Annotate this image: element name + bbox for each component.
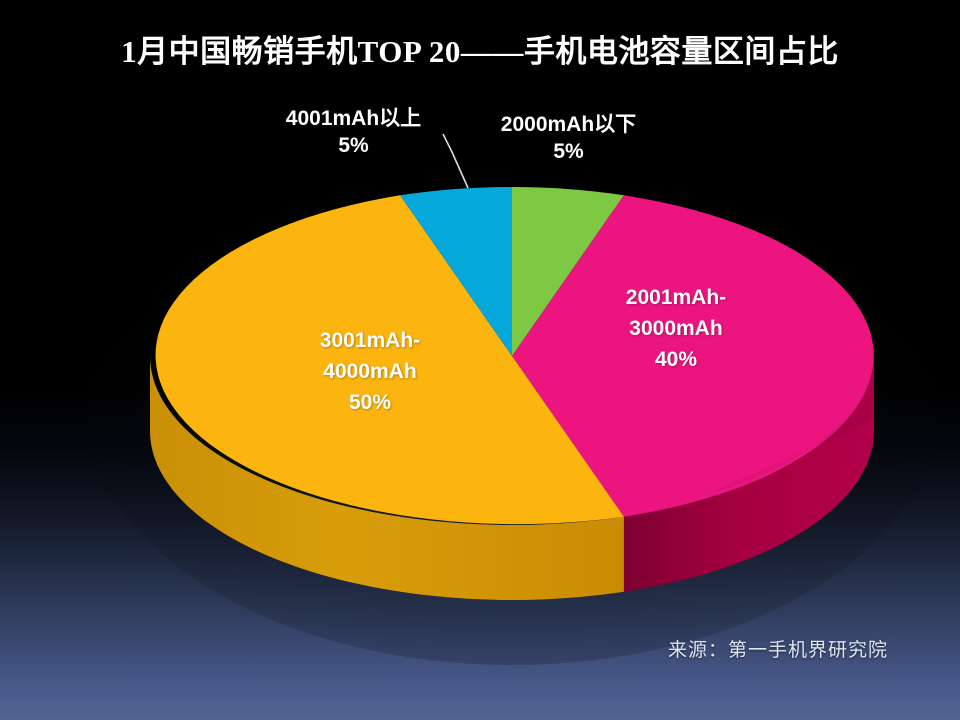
callout-label-4001mah-above: 4001mAh以上 5%	[246, 106, 461, 160]
slice-value-2001-3000mah: 40%	[655, 348, 697, 371]
slice-name-3001-4000mah-line2: 4000mAh	[323, 360, 416, 383]
slice-label-3001-4000mah: 3001mAh- 4000mAh 50%	[250, 325, 490, 418]
callout-name-4001mah: 4001mAh以上	[286, 107, 421, 130]
callout-value-4001mah: 5%	[338, 134, 368, 157]
callout-label-2000mah-below: 2000mAh以下 5%	[466, 112, 671, 166]
callout-name-2000mah: 2000mAh以下	[501, 113, 636, 136]
slice-label-2001-3000mah: 2001mAh- 3000mAh 40%	[556, 282, 796, 375]
chart-canvas: 1月中国畅销手机TOP 20——手机电池容量区间占比	[0, 0, 960, 720]
callout-value-2000mah: 5%	[553, 140, 583, 163]
slice-name-2001-3000mah-line1: 2001mAh-	[626, 286, 726, 309]
slice-name-3001-4000mah-line1: 3001mAh-	[320, 329, 420, 352]
slice-name-2001-3000mah-line2: 3000mAh	[629, 317, 722, 340]
source-note: 来源：第一手机界研究院	[668, 635, 888, 662]
slice-value-3001-4000mah: 50%	[349, 391, 391, 414]
